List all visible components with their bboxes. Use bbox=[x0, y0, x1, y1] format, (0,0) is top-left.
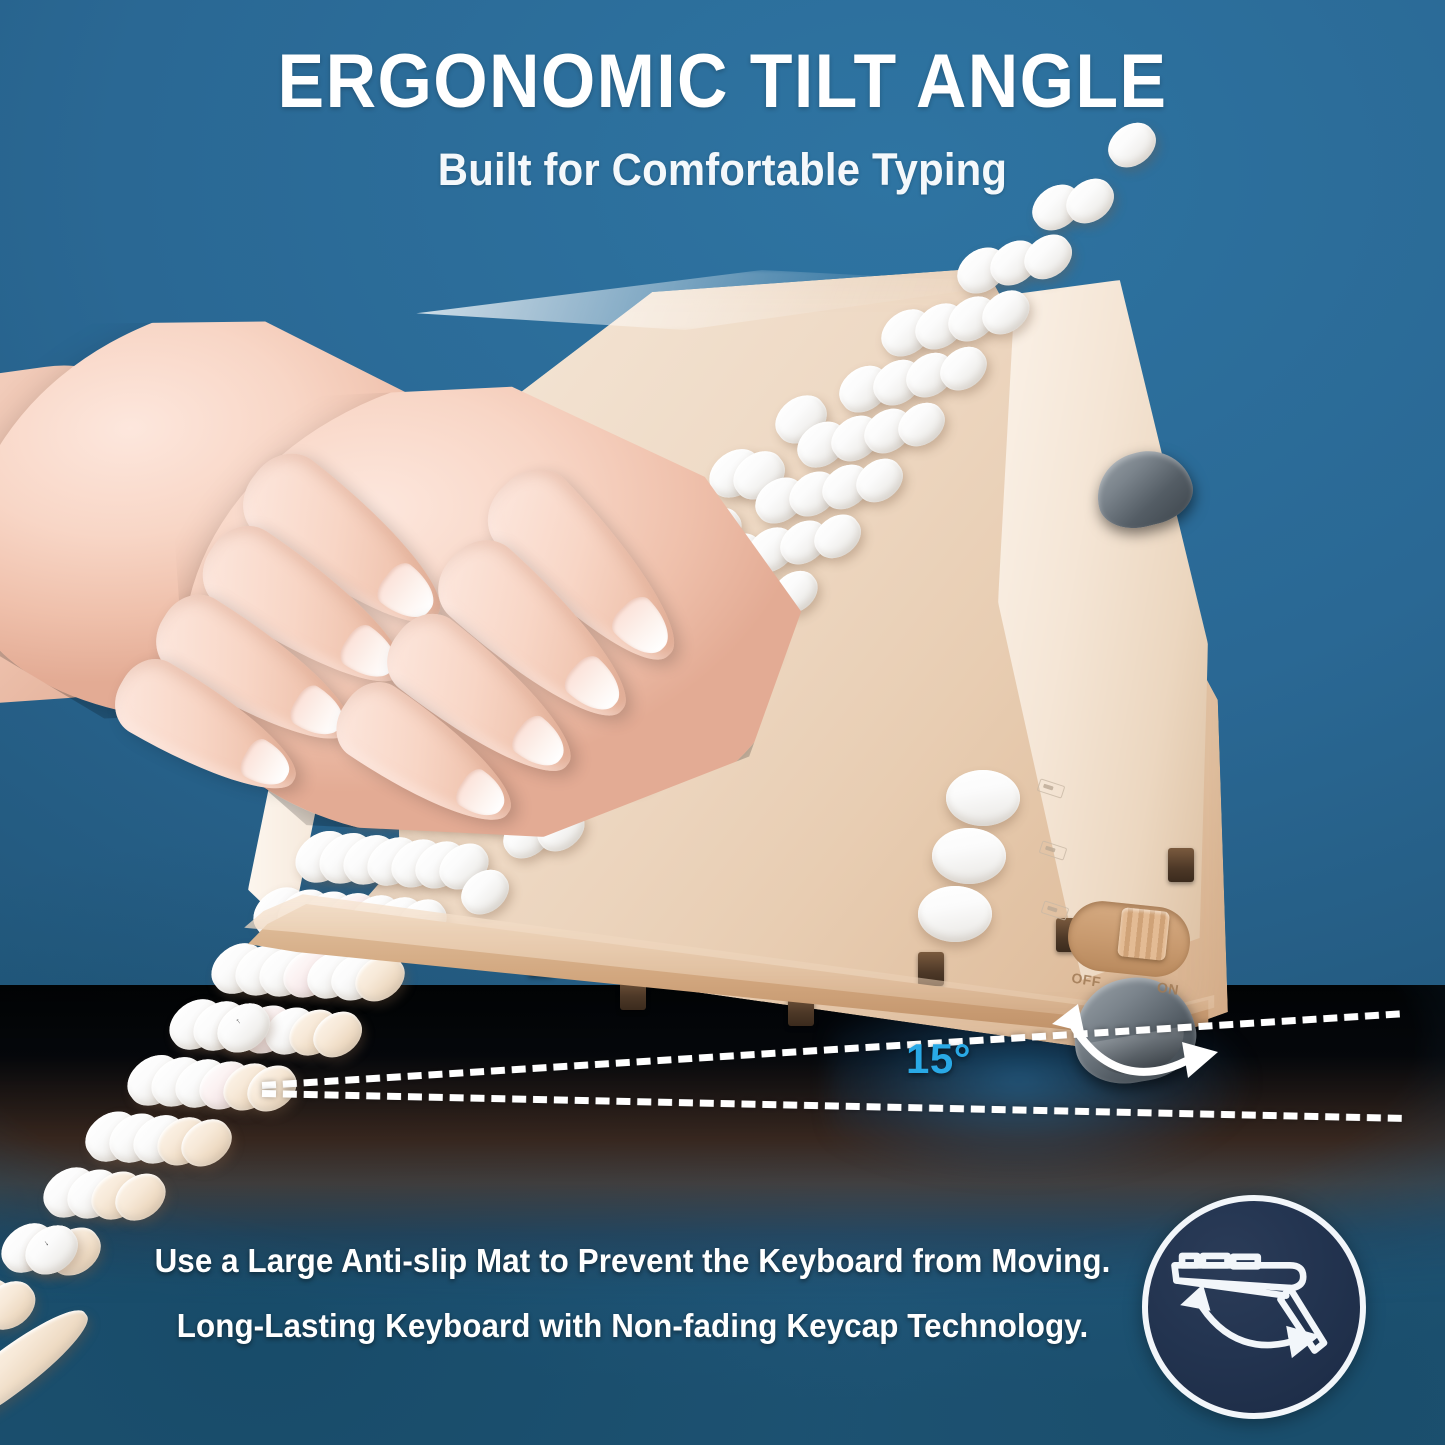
tilt-double-arrow-icon bbox=[1040, 990, 1230, 1100]
keycap-media-1[interactable] bbox=[946, 770, 1020, 826]
header-block: ERGONOMIC TILT ANGLE Built for Comfortab… bbox=[0, 44, 1445, 196]
tilt-feature-badge bbox=[1142, 1195, 1366, 1419]
power-switch-knob[interactable] bbox=[1117, 907, 1170, 961]
page-subtitle: Built for Comfortable Typing bbox=[51, 144, 1395, 196]
angle-value-label: 15° bbox=[906, 1035, 971, 1083]
keyboard-tilt-kickstand-icon bbox=[1148, 1201, 1360, 1413]
caption-line-1: Use a Large Anti-slip Mat to Prevent the… bbox=[32, 1244, 1234, 1277]
keycap-media-2[interactable] bbox=[932, 828, 1006, 884]
product-feature-banner: ERGONOMIC TILT ANGLE Built for Comfortab… bbox=[0, 0, 1445, 1445]
keycap-media-3[interactable] bbox=[918, 886, 992, 942]
caption-line-2: Long-Lasting Keyboard with Non-fading Ke… bbox=[32, 1309, 1234, 1342]
power-switch[interactable]: OFF ON bbox=[1065, 898, 1194, 980]
page-title: ERGONOMIC TILT ANGLE bbox=[58, 44, 1387, 120]
key-switch-stem-6 bbox=[1168, 848, 1194, 882]
